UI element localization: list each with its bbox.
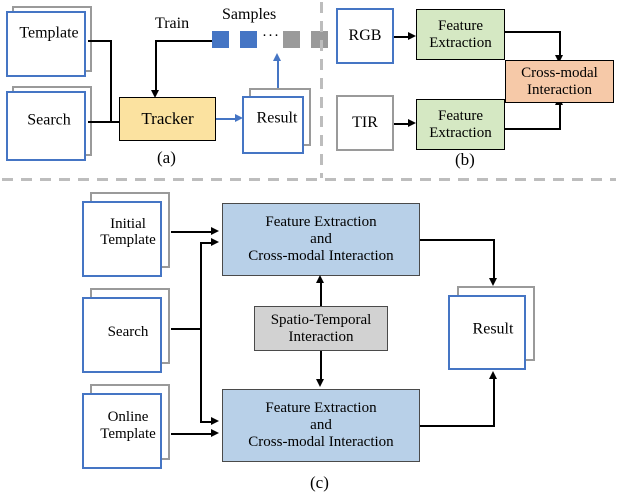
- initial-template-line1: Initial: [110, 215, 146, 231]
- bottom-module-line3: Cross-modal Interaction: [248, 434, 393, 450]
- fe-rgb-out-line: [505, 31, 561, 33]
- arrow-tir-to-fe: [408, 119, 416, 127]
- cross-modal-line2: Interaction: [527, 82, 592, 98]
- initial-template-out-line: [171, 231, 213, 233]
- caption-c: (c): [310, 473, 329, 493]
- samples-ellipsis: ···: [262, 28, 280, 45]
- train-label: Train: [155, 15, 189, 33]
- caption-a: (a): [157, 148, 176, 168]
- tracker-box: Tracker: [119, 97, 216, 141]
- top-module-out-line: [420, 239, 495, 241]
- fe-tir-up-line: [559, 104, 561, 129]
- figure-canvas: Template Search Train Samples ··· Tracke…: [0, 0, 618, 496]
- rgb-input-box: RGB: [336, 8, 394, 64]
- search-c-label: Search: [88, 324, 168, 340]
- samples-label: Samples: [222, 6, 276, 24]
- fe-tir-line2: Extraction: [429, 125, 491, 141]
- bottom-module-line1: Feature Extraction: [265, 400, 376, 416]
- panel-c-online-template-image: Online Template: [82, 384, 178, 474]
- sample-negative-1: [283, 31, 300, 48]
- feature-extraction-tir-box: Feature Extraction: [416, 99, 505, 150]
- fe-rgb-line2: Extraction: [429, 35, 491, 51]
- search-label: Search: [6, 112, 92, 129]
- result-a-label: Result: [246, 110, 308, 127]
- panel-c-initial-template-image: Initial Template: [82, 192, 178, 282]
- cross-modal-interaction-box: Cross-modal Interaction: [505, 60, 614, 103]
- online-template-label: Online Template: [88, 409, 168, 441]
- search-c-split-line: [200, 242, 202, 422]
- spatio-temporal-line2: Interaction: [289, 329, 354, 345]
- arrow-online-template-to-bottom-module: [211, 429, 219, 437]
- tracker-label: Tracker: [138, 109, 196, 128]
- initial-template-label: Initial Template: [88, 215, 168, 247]
- top-module-line3: Cross-modal Interaction: [248, 248, 393, 264]
- caption-b: (b): [455, 150, 475, 170]
- panel-c-result-image: Result: [448, 286, 554, 381]
- spatio-up-line: [320, 282, 322, 306]
- bottom-module-out-line: [420, 425, 495, 427]
- sample-positive-1: [212, 31, 229, 48]
- top-feature-cross-modal-module: Feature Extraction and Cross-modal Inter…: [222, 203, 420, 276]
- arrow-spatio-to-top-module: [316, 275, 324, 283]
- top-module-line1: Feature Extraction: [265, 214, 376, 230]
- arrow-rgb-to-fe: [408, 32, 416, 40]
- merge-vertical-line: [110, 40, 112, 122]
- result-c-label: Result: [454, 320, 532, 337]
- fe-rgb-line1: Feature: [438, 18, 483, 34]
- rgb-label: RGB: [346, 27, 385, 45]
- initial-template-line2: Template: [100, 232, 156, 248]
- spatio-temporal-interaction-box: Spatio-Temporal Interaction: [254, 306, 388, 351]
- arrow-top-module-to-result: [489, 278, 497, 286]
- cross-modal-line1: Cross-modal: [521, 65, 598, 81]
- arrow-search-to-bottom-module: [211, 417, 219, 425]
- fe-tir-out-line: [505, 128, 561, 130]
- template-inner-square: [6, 11, 86, 77]
- panel-a-result-image: Result: [242, 88, 320, 160]
- bottom-module-line2: and: [310, 417, 332, 433]
- panel-divider-horizontal: [2, 178, 616, 181]
- spatio-down-line: [320, 351, 322, 381]
- fe-tir-line1: Feature: [438, 108, 483, 124]
- top-module-line2: and: [310, 231, 332, 247]
- top-module-to-result-line: [493, 239, 495, 281]
- train-line-horizontal: [155, 40, 213, 42]
- tir-input-box: TIR: [336, 95, 394, 151]
- panel-divider-vertical: [320, 2, 323, 178]
- spatio-temporal-line1: Spatio-Temporal: [271, 312, 372, 328]
- tir-label: TIR: [349, 114, 381, 132]
- arrow-spatio-to-bottom-module: [316, 379, 324, 387]
- panel-c-search-image: Search: [82, 288, 178, 378]
- online-template-out-line: [171, 433, 213, 435]
- arrow-initial-template-to-top-module: [211, 227, 219, 235]
- panel-a-search-image: Search: [6, 86, 92, 162]
- online-template-line1: Online: [108, 409, 149, 425]
- bottom-feature-cross-modal-module: Feature Extraction and Cross-modal Inter…: [222, 389, 420, 462]
- train-line-vertical: [155, 40, 157, 93]
- template-label: Template: [6, 25, 92, 42]
- arrow-search-to-top-module: [211, 238, 219, 246]
- arrow-result-to-samples: [273, 53, 281, 61]
- online-template-line2: Template: [100, 425, 156, 441]
- panel-a-template-image: Template: [6, 6, 92, 78]
- search-c-out-line: [171, 328, 202, 330]
- feature-extraction-rgb-box: Feature Extraction: [416, 9, 505, 60]
- sample-positive-2: [240, 31, 257, 48]
- bottom-module-to-result-line: [493, 378, 495, 426]
